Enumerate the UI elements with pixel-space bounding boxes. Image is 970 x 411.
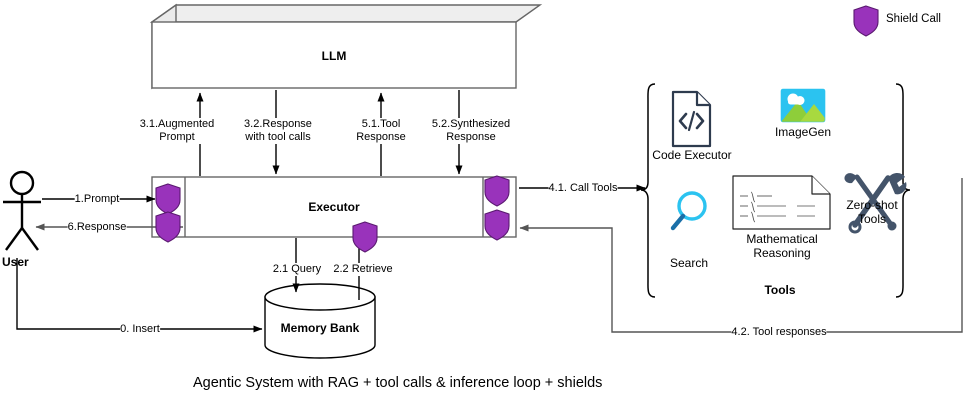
edge-label-query: 2.1 Query (273, 263, 321, 276)
llm-node (152, 5, 540, 88)
executor-label: Executor (308, 200, 359, 214)
tools-group-brace-left (641, 84, 655, 297)
edge-label-synthesized-response: 5.2.Synthesized Response (423, 118, 519, 144)
edge-insert (17, 258, 262, 329)
edge-label-response-tool-calls: 3.2.Response with tool calls (226, 118, 330, 144)
edge-label-retrieve: 2.2 Retrieve (333, 263, 392, 276)
diagram-vector-layer (0, 0, 970, 411)
edge-label-call-tools: 4.1. Call Tools (549, 182, 618, 195)
diagram-canvas: LLM Executor Memory Bank User 1.Prompt 6… (0, 0, 970, 411)
tool-label-zero-shot-tools: Zero-shot Tools (846, 198, 897, 226)
edge-label-augmented-prompt: 3.1.Augmented Prompt (132, 118, 222, 144)
memory-bank-label: Memory Bank (281, 321, 360, 335)
tool-label-imagegen: ImageGen (775, 125, 831, 139)
magnifying-glass-icon (673, 193, 705, 228)
edge-label-prompt: 1.Prompt (75, 193, 120, 206)
tool-label-mathematical-reasoning: Mathematical Reasoning (746, 232, 817, 260)
image-picture-icon (781, 89, 828, 122)
tool-label-code-executor: Code Executor (652, 148, 731, 162)
edge-label-tool-responses: 4.2. Tool responses (731, 326, 826, 339)
shield-icon-legend (854, 6, 878, 36)
code-document-icon (673, 92, 710, 146)
tool-label-search: Search (670, 256, 708, 270)
tools-group-label: Tools (764, 283, 795, 297)
user-stick-figure (3, 172, 41, 250)
legend-shield-call-label: Shield Call (886, 13, 941, 25)
llm-label: LLM (322, 49, 347, 63)
shield-icon-executor-bottom-center (353, 222, 377, 252)
edge-label-tool-response: 5.1.Tool Response (344, 118, 418, 144)
diagram-caption: Agentic System with RAG + tool calls & i… (193, 375, 602, 391)
formula-document-icon (733, 176, 830, 229)
user-label: User (2, 256, 29, 269)
edge-label-response-user: 6.Response (68, 221, 127, 234)
edge-label-insert: 0. Insert (120, 323, 160, 336)
